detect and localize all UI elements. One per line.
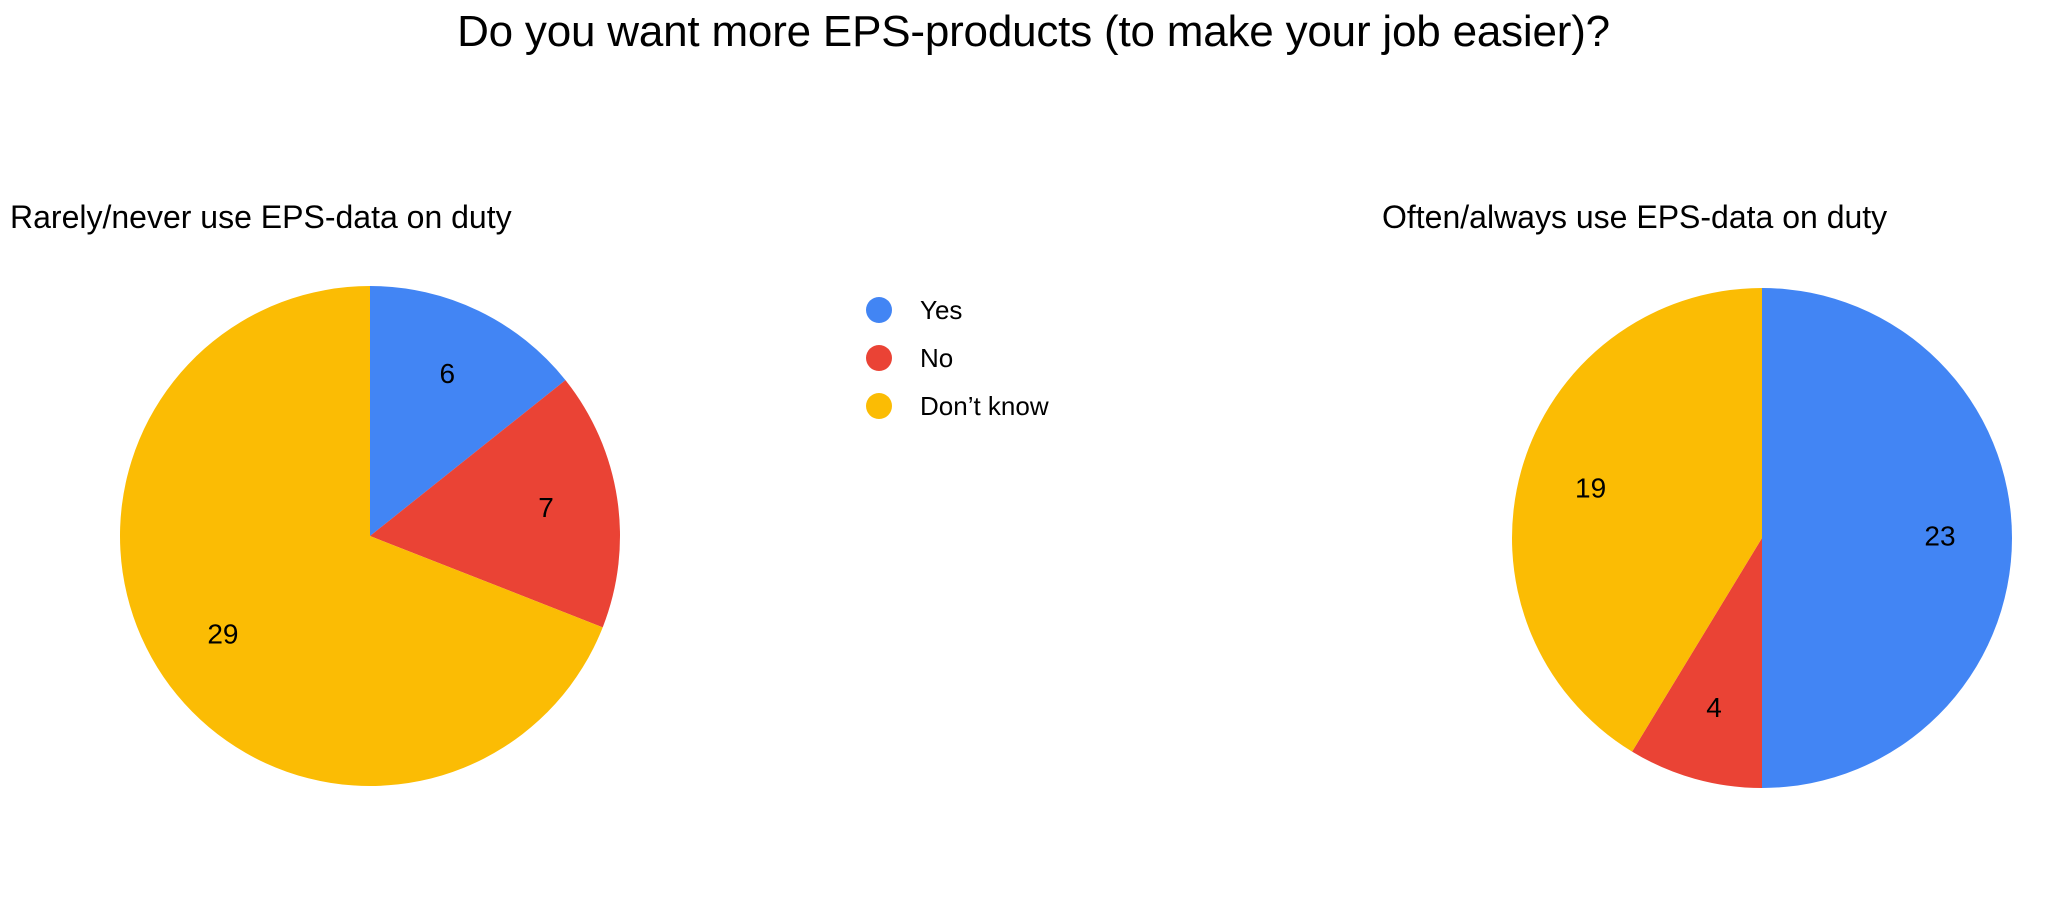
pie-slice[interactable] xyxy=(1762,288,2012,788)
pie-slice-value-label: 19 xyxy=(1575,472,1606,503)
pie-slice-value-label: 6 xyxy=(439,358,455,389)
legend-swatch-icon xyxy=(866,345,892,371)
page-title: Do you want more EPS-products (to make y… xyxy=(0,4,2067,59)
legend-item-label: Don’t know xyxy=(920,393,1049,419)
panel-subtitle-right: Often/always use EPS-data on duty xyxy=(1382,198,1887,236)
pie-svg-right: 23419 xyxy=(1482,258,2042,818)
pie-slice-value-label: 7 xyxy=(538,492,554,523)
legend-item-label: Yes xyxy=(920,297,962,323)
legend-swatch-icon xyxy=(866,297,892,323)
legend: YesNoDon’t know xyxy=(866,286,1166,430)
pie-svg-left: 6729 xyxy=(90,256,650,816)
pie-chart-figure: Do you want more EPS-products (to make y… xyxy=(0,0,2067,915)
pie-slice-value-label: 4 xyxy=(1706,692,1722,723)
legend-item-label: No xyxy=(920,345,953,371)
pie-chart-often-always: 23419 xyxy=(1482,258,2042,818)
legend-item[interactable]: Yes xyxy=(866,286,1166,334)
pie-slice-value-label: 23 xyxy=(1924,520,1955,551)
pie-slice-value-label: 29 xyxy=(207,619,238,650)
legend-swatch-icon xyxy=(866,393,892,419)
pie-chart-rarely-never: 6729 xyxy=(90,256,650,816)
panel-subtitle-left: Rarely/never use EPS-data on duty xyxy=(10,198,512,236)
legend-item[interactable]: Don’t know xyxy=(866,382,1166,430)
legend-item[interactable]: No xyxy=(866,334,1166,382)
